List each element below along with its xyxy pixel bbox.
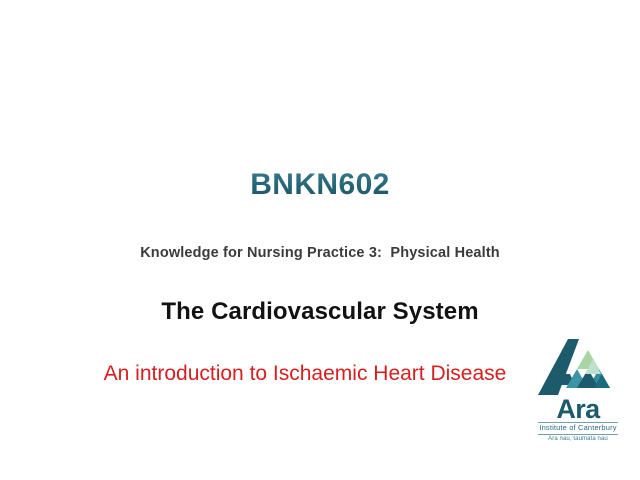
paper-title: Knowledge for Nursing Practice 3: Physic… (0, 243, 640, 263)
subtopic-title: An introduction to Ischaemic Heart Disea… (80, 360, 530, 388)
slide-canvas: BNKN602 Knowledge for Nursing Practice 3… (0, 0, 640, 480)
course-code-title: BNKN602 (0, 168, 640, 202)
ara-wordmark: Ara (524, 394, 632, 424)
topic-title: The Cardiovascular System (0, 297, 640, 327)
ara-tagline: Ara nau, taumata nau (524, 435, 632, 444)
ara-subtitle: Institute of Canterbury (524, 423, 632, 433)
ara-triangle-mark-icon (538, 338, 618, 396)
ara-logo: Ara Institute of Canterbury Ara nau, tau… (524, 338, 632, 448)
